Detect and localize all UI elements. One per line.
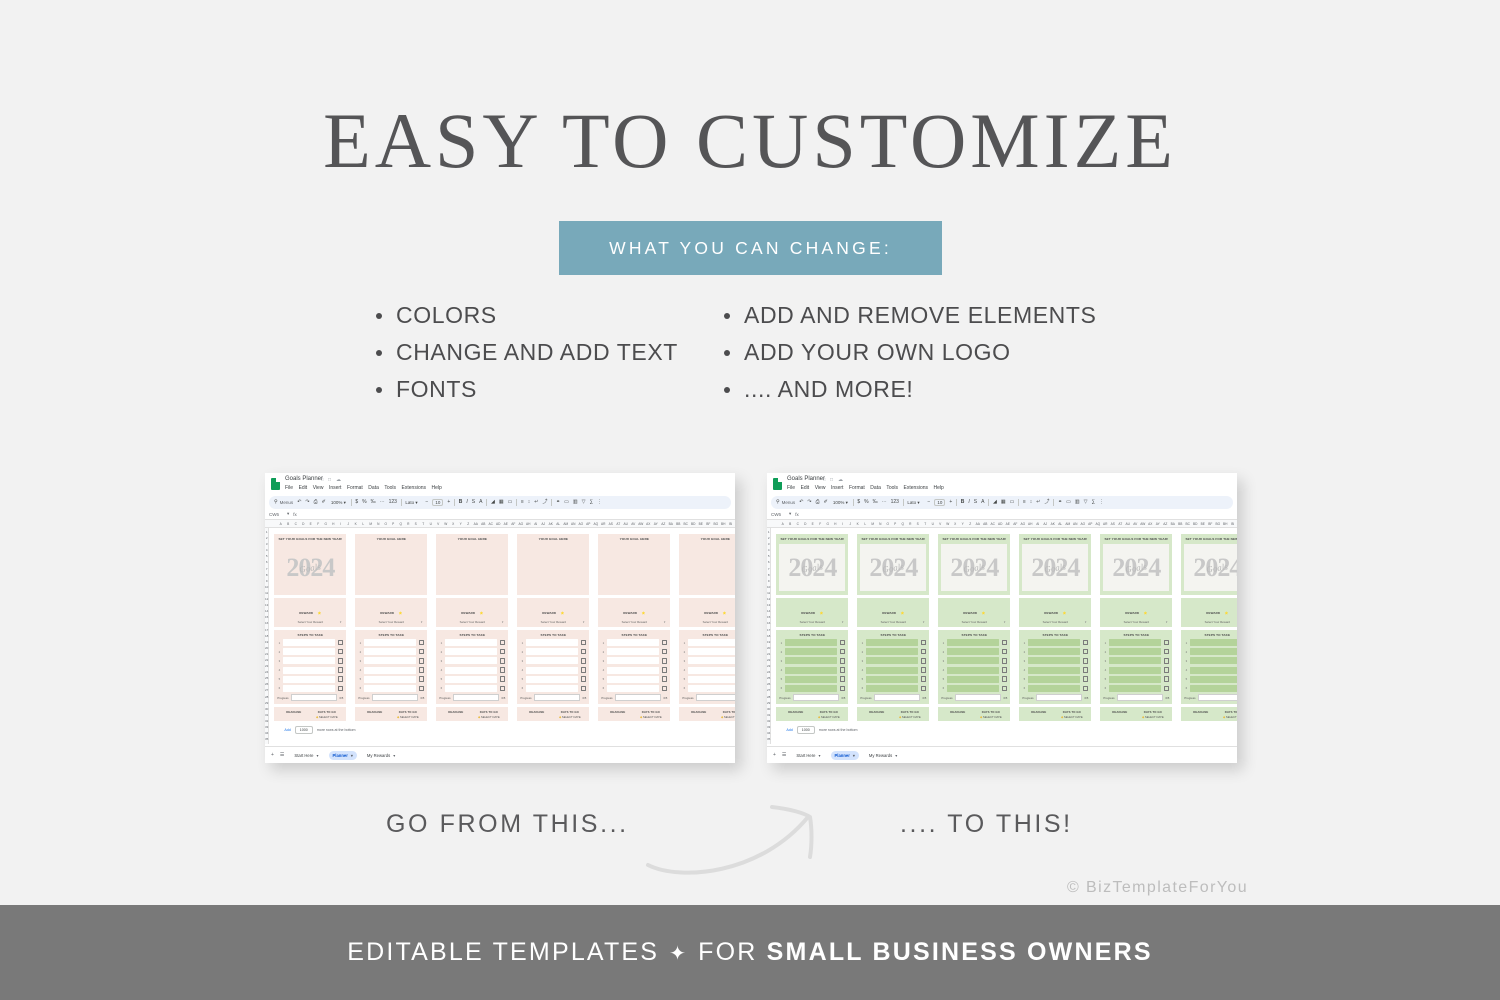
step-input[interactable] [526,648,577,655]
select-date-button[interactable]: ◆ SELECT DATE [634,715,667,719]
step-input[interactable] [947,685,998,692]
chevron-down-icon[interactable]: ▾ [317,753,319,758]
column-header[interactable]: AJ [1042,522,1050,526]
column-header[interactable]: H [330,522,338,526]
name-box[interactable]: CW6 [771,512,785,517]
step-input[interactable] [445,676,496,683]
step-checkbox[interactable] [419,686,425,692]
step-checkbox[interactable] [1002,667,1008,673]
add-sheet-icon[interactable]: + [773,752,776,758]
step-checkbox[interactable] [1002,686,1008,692]
step-input[interactable] [1190,685,1237,692]
step-checkbox[interactable] [1002,640,1008,646]
column-header[interactable]: J [345,522,353,526]
column-header[interactable]: BI [727,522,735,526]
column-header[interactable]: AB [480,522,488,526]
column-header[interactable]: Y [457,522,465,526]
increase-font-icon[interactable]: + [447,500,450,505]
sheet-grid[interactable]: 1234567891011121314151617181920212223242… [767,528,1237,744]
step-checkbox[interactable] [921,676,927,682]
step-input[interactable] [1028,676,1079,683]
column-header[interactable]: AT [615,522,623,526]
chevron-down-icon[interactable]: ▾ [853,753,855,758]
all-sheets-icon[interactable]: ☰ [280,752,284,758]
step-checkbox[interactable] [1083,667,1089,673]
step-checkbox[interactable] [338,676,344,682]
font-family-select[interactable]: Lato ▾ [405,500,421,506]
insert-comment-icon[interactable]: ▭ [1066,500,1071,505]
step-checkbox[interactable] [840,667,846,673]
chevron-down-icon[interactable]: ▾ [393,753,395,758]
column-header[interactable]: I [839,522,847,526]
functions-icon[interactable]: ∑ [1091,500,1095,505]
decrease-decimal-icon[interactable]: ‰ [371,500,376,505]
step-checkbox[interactable] [500,686,506,692]
add-rows-button[interactable]: Add [284,728,290,732]
strikethrough-icon[interactable]: S [974,500,977,505]
paint-format-icon[interactable]: ✐ [824,500,828,505]
column-header[interactable]: AI [532,522,540,526]
step-checkbox[interactable] [840,676,846,682]
bold-icon[interactable]: B [961,500,965,505]
column-header[interactable]: V [435,522,443,526]
merge-cells-icon[interactable]: ▭ [508,500,513,505]
column-header[interactable]: AW [637,522,645,526]
column-header[interactable]: AH [525,522,533,526]
column-header[interactable]: BG [712,522,720,526]
step-input[interactable] [866,667,917,674]
menu-item-data[interactable]: Data [368,485,379,491]
column-header[interactable]: BB [1177,522,1185,526]
step-input[interactable] [1109,639,1160,646]
step-checkbox[interactable] [921,658,927,664]
column-header[interactable]: BF [705,522,713,526]
step-input[interactable] [785,676,836,683]
step-input[interactable] [526,676,577,683]
column-header[interactable]: Y [959,522,967,526]
column-header[interactable]: AL [555,522,563,526]
sheet-tab-my-rewards[interactable]: My Rewards▾ [865,751,901,760]
column-header[interactable]: AC [989,522,997,526]
column-header[interactable]: Z [967,522,975,526]
move-folder-icon[interactable]: □ [830,477,833,483]
step-checkbox[interactable] [581,640,587,646]
step-checkbox[interactable] [500,676,506,682]
borders-icon[interactable]: ▦ [1001,500,1006,505]
select-date-button[interactable]: ◆ SELECT DATE [893,715,926,719]
column-header[interactable]: H [832,522,840,526]
column-header[interactable]: E [307,522,315,526]
step-input[interactable] [364,676,415,683]
step-checkbox[interactable] [581,667,587,673]
step-input[interactable] [866,648,917,655]
step-checkbox[interactable] [338,667,344,673]
column-header[interactable]: AO [1079,522,1087,526]
chevron-down-icon[interactable]: ▾ [819,753,821,758]
column-header[interactable]: AQ [592,522,600,526]
currency-icon[interactable]: $ [355,500,358,505]
strikethrough-icon[interactable]: S [472,500,475,505]
column-header[interactable]: F [315,522,323,526]
step-input[interactable] [283,648,334,655]
column-header[interactable]: B [285,522,293,526]
step-checkbox[interactable] [419,658,425,664]
column-header[interactable]: C [794,522,802,526]
step-input[interactable] [785,667,836,674]
column-header[interactable]: AZ [660,522,668,526]
select-date-button[interactable]: ◆ SELECT DATE [553,715,586,719]
percent-icon[interactable]: % [362,500,366,505]
step-checkbox[interactable] [662,686,668,692]
column-header[interactable]: AE [1004,522,1012,526]
redo-icon[interactable]: ↷ [807,500,811,505]
chevron-down-icon[interactable]: ▾ [340,620,342,624]
column-header[interactable]: A [779,522,787,526]
column-header[interactable]: F [817,522,825,526]
column-header[interactable]: BF [1207,522,1215,526]
column-header[interactable]: G [824,522,832,526]
step-input[interactable] [688,667,735,674]
select-date-button[interactable]: ◆ SELECT DATE [974,715,1007,719]
step-input[interactable] [364,667,415,674]
move-folder-icon[interactable]: □ [328,477,331,483]
chevron-down-icon[interactable]: ▾ [351,753,353,758]
column-header[interactable]: AD [997,522,1005,526]
step-input[interactable] [1028,648,1079,655]
column-header[interactable]: AD [495,522,503,526]
step-checkbox[interactable] [1002,676,1008,682]
step-checkbox[interactable] [662,658,668,664]
step-input[interactable] [1109,657,1160,664]
step-input[interactable] [283,667,334,674]
chevron-down-icon[interactable]: ▾ [502,620,504,624]
step-checkbox[interactable] [581,658,587,664]
currency-icon[interactable]: $ [857,500,860,505]
row-header[interactable]: 35 [767,736,770,742]
column-header[interactable]: M [869,522,877,526]
column-header[interactable]: AK [547,522,555,526]
step-checkbox[interactable] [1002,649,1008,655]
sheet-tab-planner[interactable]: Planner▾ [329,751,357,760]
column-header[interactable]: P [390,522,398,526]
column-header[interactable]: S [914,522,922,526]
menu-item-extensions[interactable]: Extensions [904,485,928,491]
step-input[interactable] [1028,667,1079,674]
step-checkbox[interactable] [1083,676,1089,682]
step-input[interactable] [688,657,735,664]
step-input[interactable] [1190,667,1237,674]
text-color-icon[interactable]: A [981,500,984,505]
column-header[interactable]: AA [974,522,982,526]
fill-color-icon[interactable]: ◢ [993,500,997,505]
step-input[interactable] [607,639,658,646]
decrease-decimal-icon[interactable]: ‰ [873,500,878,505]
search-menus-button[interactable]: ⚲Menus [776,500,795,505]
column-header[interactable]: K [854,522,862,526]
increase-decimal-icon[interactable]: ⋯ [380,500,385,505]
step-input[interactable] [1109,676,1160,683]
select-date-button[interactable]: ◆ SELECT DATE [472,715,505,719]
step-input[interactable] [947,676,998,683]
insert-link-icon[interactable]: ⚭ [1058,500,1062,505]
step-input[interactable] [1190,639,1237,646]
column-header[interactable]: AH [1027,522,1035,526]
step-input[interactable] [785,648,836,655]
step-input[interactable] [364,648,415,655]
column-header[interactable]: D [300,522,308,526]
more-options-icon[interactable]: ⋮ [597,500,602,505]
step-checkbox[interactable] [921,667,927,673]
add-sheet-icon[interactable]: + [271,752,274,758]
document-title[interactable]: Goals Planner [285,476,323,482]
reward-select[interactable]: Select Your Reward▾ [941,620,1007,624]
step-checkbox[interactable] [921,640,927,646]
column-header[interactable]: N [375,522,383,526]
column-header[interactable]: AI [1034,522,1042,526]
font-family-select[interactable]: Lato ▾ [907,500,923,506]
column-header[interactable]: B [787,522,795,526]
column-header[interactable]: AU [1124,522,1132,526]
step-input[interactable] [785,657,836,664]
menu-item-data[interactable]: Data [870,485,881,491]
column-header[interactable]: BH [1222,522,1230,526]
text-color-icon[interactable]: A [479,500,482,505]
row-header[interactable]: 35 [265,736,268,742]
horizontal-align-icon[interactable]: ≡ [1023,500,1026,505]
select-date-button[interactable]: ◆ SELECT DATE [1055,715,1088,719]
step-checkbox[interactable] [419,640,425,646]
step-checkbox[interactable] [1164,667,1170,673]
step-input[interactable] [526,639,577,646]
column-header[interactable]: R [907,522,915,526]
print-icon[interactable]: ⎙ [314,500,318,505]
step-checkbox[interactable] [662,640,668,646]
chevron-down-icon[interactable]: ▾ [664,620,666,624]
step-input[interactable] [688,648,735,655]
column-header[interactable]: T [922,522,930,526]
column-header[interactable]: AW [1139,522,1147,526]
step-checkbox[interactable] [1002,658,1008,664]
chevron-down-icon[interactable]: ▾ [421,620,423,624]
column-header[interactable]: AC [487,522,495,526]
step-input[interactable] [1190,676,1237,683]
chevron-down-icon[interactable]: ▾ [923,620,925,624]
decrease-font-icon[interactable]: − [927,500,930,505]
menu-item-edit[interactable]: Edit [801,485,810,491]
step-input[interactable] [283,685,334,692]
column-header[interactable]: AL [1057,522,1065,526]
vertical-align-icon[interactable]: ↕ [1030,500,1033,505]
step-checkbox[interactable] [840,686,846,692]
step-input[interactable] [607,657,658,664]
italic-icon[interactable]: I [968,500,969,505]
select-date-button[interactable]: ◆ SELECT DATE [391,715,424,719]
search-menus-button[interactable]: ⚲Menus [274,500,293,505]
all-sheets-icon[interactable]: ☰ [782,752,786,758]
sheet-grid[interactable]: 1234567891011121314151617181920212223242… [265,528,735,744]
column-header[interactable]: AZ [1162,522,1170,526]
insert-comment-icon[interactable]: ▭ [564,500,569,505]
reward-select[interactable]: Select Your Reward▾ [1022,620,1088,624]
document-title[interactable]: Goals Planner [787,476,825,482]
sheet-tab-start-here[interactable]: Start Here▾ [290,751,322,760]
column-header[interactable]: BD [1192,522,1200,526]
step-checkbox[interactable] [1164,658,1170,664]
step-checkbox[interactable] [1083,658,1089,664]
chevron-down-icon[interactable]: ▾ [1166,620,1168,624]
menu-item-help[interactable]: Help [432,485,442,491]
step-checkbox[interactable] [1083,640,1089,646]
column-header[interactable]: AG [517,522,525,526]
more-options-icon[interactable]: ⋮ [1099,500,1104,505]
functions-icon[interactable]: ∑ [589,500,593,505]
step-input[interactable] [364,657,415,664]
step-input[interactable] [607,676,658,683]
column-header[interactable]: BA [667,522,675,526]
menu-item-tools[interactable]: Tools [886,485,898,491]
step-checkbox[interactable] [581,686,587,692]
column-header[interactable]: AQ [1094,522,1102,526]
menu-item-view[interactable]: View [313,485,324,491]
column-header[interactable]: Q [899,522,907,526]
step-input[interactable] [688,685,735,692]
menu-item-format[interactable]: Format [849,485,865,491]
step-input[interactable] [1109,685,1160,692]
decrease-font-icon[interactable]: − [425,500,428,505]
chevron-down-icon[interactable]: ▾ [1004,620,1006,624]
step-input[interactable] [445,657,496,664]
menu-item-view[interactable]: View [815,485,826,491]
column-header[interactable]: E [809,522,817,526]
menu-item-tools[interactable]: Tools [384,485,396,491]
select-date-button[interactable]: ◆ SELECT DATE [1217,715,1237,719]
reward-select[interactable]: Select Your Reward▾ [601,620,667,624]
column-header[interactable]: W [944,522,952,526]
column-header[interactable]: R [405,522,413,526]
column-header[interactable]: AF [1012,522,1020,526]
paint-format-icon[interactable]: ✐ [322,500,326,505]
borders-icon[interactable]: ▦ [499,500,504,505]
menu-item-file[interactable]: File [787,485,795,491]
step-input[interactable] [364,639,415,646]
text-rotation-icon[interactable]: ⤴ [542,500,547,505]
column-header[interactable]: AN [1072,522,1080,526]
column-header[interactable]: A [277,522,285,526]
column-header[interactable]: I [337,522,345,526]
step-checkbox[interactable] [1083,649,1089,655]
column-header[interactable]: AR [600,522,608,526]
reward-select[interactable]: Select Your Reward▾ [682,620,735,624]
column-header[interactable]: AX [645,522,653,526]
column-header[interactable]: AT [1117,522,1125,526]
step-checkbox[interactable] [419,649,425,655]
column-header[interactable]: AS [607,522,615,526]
step-checkbox[interactable] [500,667,506,673]
chevron-down-icon[interactable]: ▾ [583,620,585,624]
reward-select[interactable]: Select Your Reward▾ [1184,620,1237,624]
step-input[interactable] [1028,639,1079,646]
chevron-down-icon[interactable]: ▾ [842,620,844,624]
step-input[interactable] [947,648,998,655]
step-checkbox[interactable] [1164,686,1170,692]
column-header[interactable]: AM [562,522,570,526]
redo-icon[interactable]: ↷ [305,500,309,505]
column-header[interactable]: BE [697,522,705,526]
reward-select[interactable]: Select Your Reward▾ [358,620,424,624]
star-icon[interactable]: ☆ [320,477,324,483]
step-checkbox[interactable] [581,649,587,655]
step-input[interactable] [526,657,577,664]
zoom-level-select[interactable]: 100% ▾ [832,500,849,506]
step-input[interactable] [866,676,917,683]
column-header[interactable]: AN [570,522,578,526]
menu-item-format[interactable]: Format [347,485,363,491]
column-header[interactable]: AF [510,522,518,526]
column-header[interactable]: Z [465,522,473,526]
reward-select[interactable]: Select Your Reward▾ [439,620,505,624]
column-header[interactable]: O [382,522,390,526]
step-checkbox[interactable] [338,640,344,646]
step-input[interactable] [866,639,917,646]
column-header[interactable]: BE [1199,522,1207,526]
step-input[interactable] [445,667,496,674]
reward-select[interactable]: Select Your Reward▾ [779,620,845,624]
column-header[interactable]: U [929,522,937,526]
column-header[interactable]: J [847,522,855,526]
step-input[interactable] [1190,648,1237,655]
name-box-chevron-icon[interactable]: ▾ [789,511,791,517]
more-formats-icon[interactable]: 123 [389,500,397,505]
column-header[interactable]: AA [472,522,480,526]
step-input[interactable] [283,639,334,646]
column-header[interactable]: W [442,522,450,526]
sheet-tab-my-rewards[interactable]: My Rewards▾ [363,751,399,760]
column-header[interactable]: AE [502,522,510,526]
step-input[interactable] [607,648,658,655]
step-input[interactable] [785,639,836,646]
column-header[interactable]: AP [585,522,593,526]
step-checkbox[interactable] [500,649,506,655]
sheet-tab-planner[interactable]: Planner▾ [831,751,859,760]
column-header[interactable]: T [420,522,428,526]
add-rows-input[interactable]: 1000 [295,726,313,734]
step-checkbox[interactable] [840,649,846,655]
column-header[interactable]: BC [682,522,690,526]
column-header[interactable]: D [802,522,810,526]
step-input[interactable] [1028,685,1079,692]
column-header[interactable]: X [952,522,960,526]
column-header[interactable]: C [292,522,300,526]
column-header[interactable]: AY [1154,522,1162,526]
column-header[interactable]: AO [577,522,585,526]
column-header[interactable]: AJ [540,522,548,526]
menu-item-extensions[interactable]: Extensions [402,485,426,491]
column-header[interactable]: AR [1102,522,1110,526]
more-formats-icon[interactable]: 123 [891,500,899,505]
select-date-button[interactable]: ◆ SELECT DATE [812,715,845,719]
column-header[interactable]: AU [622,522,630,526]
column-header[interactable]: BC [1184,522,1192,526]
step-input[interactable] [947,667,998,674]
column-header[interactable]: AG [1019,522,1027,526]
italic-icon[interactable]: I [466,500,467,505]
step-checkbox[interactable] [840,640,846,646]
step-checkbox[interactable] [500,658,506,664]
column-header[interactable]: BB [675,522,683,526]
column-header[interactable]: AB [982,522,990,526]
step-checkbox[interactable] [840,658,846,664]
text-wrap-icon[interactable]: ↵ [534,500,538,505]
